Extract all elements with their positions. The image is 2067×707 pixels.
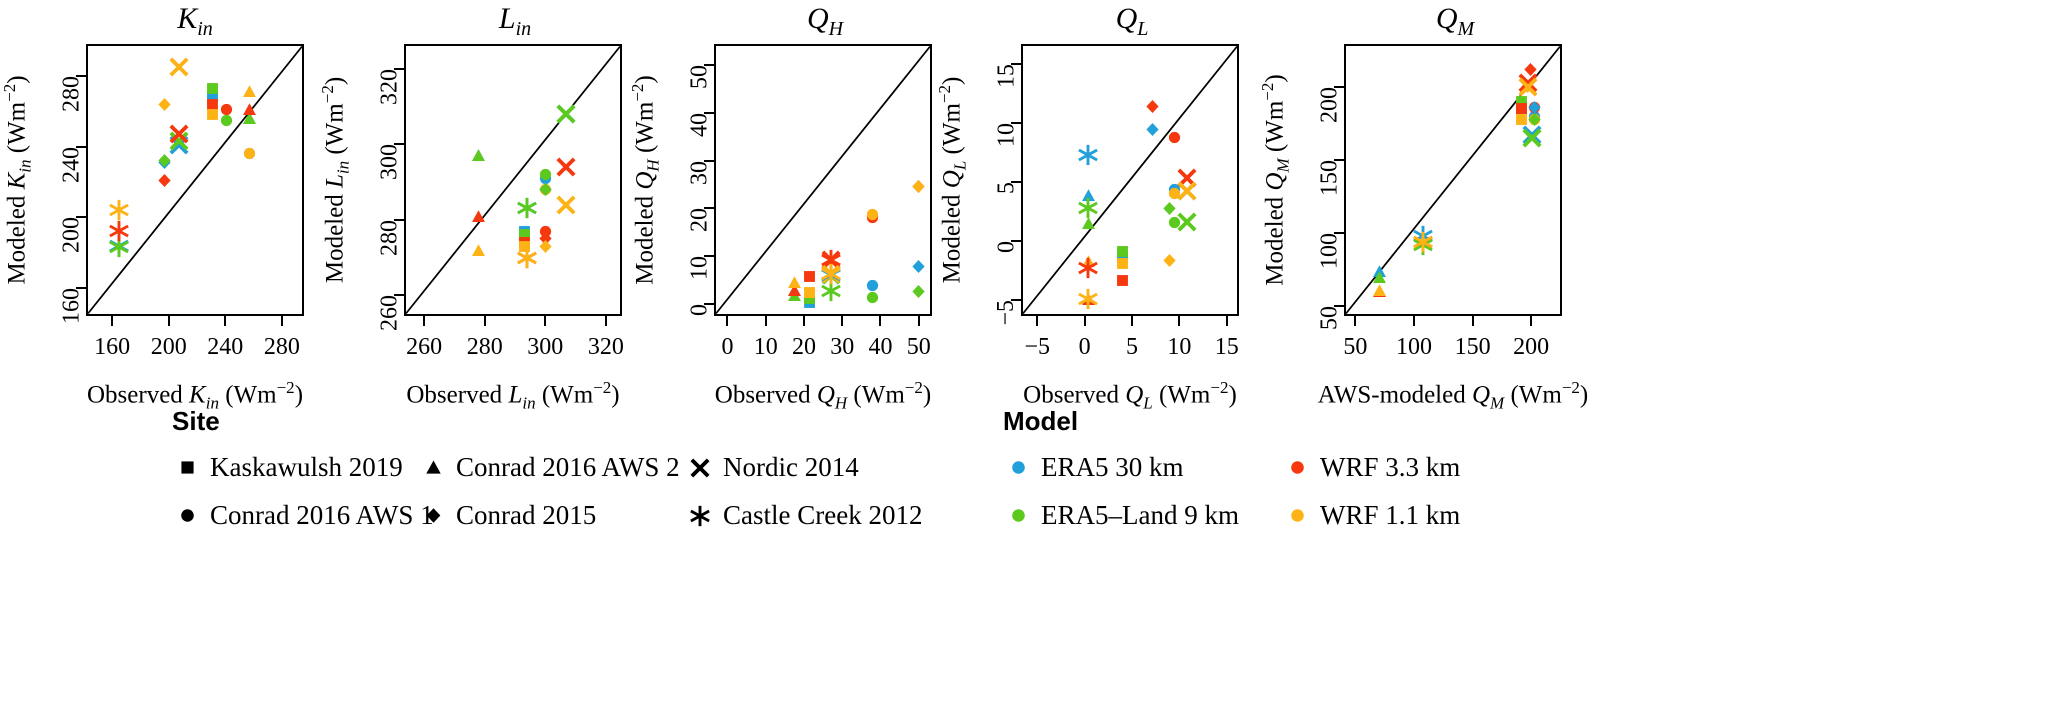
- cross-icon: [685, 456, 715, 480]
- x-tick-QH-0: [726, 314, 728, 326]
- x-tick-Kin-2: [224, 314, 226, 326]
- legend-label: WRF 1.1 km: [1320, 500, 1460, 531]
- x-tick-Lin-0: [423, 314, 425, 326]
- plot-area-Kin: 160200240280160200240280: [86, 44, 304, 316]
- y-tick-label-Lin-3: 320: [377, 69, 404, 105]
- legend-label: Conrad 2016 AWS 2: [456, 452, 680, 483]
- x-tick-QH-3: [841, 314, 843, 326]
- panel-title-Kin: Kin: [60, 2, 330, 41]
- x-tick-Lin-2: [544, 314, 546, 326]
- plot-area-Lin: 260280300320260280300320: [404, 44, 622, 316]
- circle-icon: [1003, 458, 1033, 477]
- figure-canvas: Kin160200240280160200240280Modeled Kin (…: [0, 0, 2067, 707]
- y-tick-label-QH-5: 50: [687, 65, 714, 89]
- y-tick-label-QM-2: 150: [1317, 160, 1344, 196]
- x-tick-Kin-3: [281, 314, 283, 326]
- x-tick-Lin-1: [484, 314, 486, 326]
- x-tick-Lin-3: [605, 314, 607, 326]
- plot-area-QH: 0102030405001020304050: [714, 44, 932, 316]
- legend-label: Kaskawulsh 2019: [210, 452, 403, 483]
- legend-label: Conrad 2016 AWS 1: [210, 500, 434, 531]
- y-tick-label-QL-4: 15: [994, 64, 1021, 88]
- x-tick-QH-5: [918, 314, 920, 326]
- one-to-one-line-Kin: [88, 46, 302, 314]
- y-tick-label-Lin-0: 260: [377, 295, 404, 331]
- legend-item-site-4[interactable]: Nordic 2014: [685, 452, 859, 483]
- triangle-icon: [418, 458, 448, 477]
- x-tick-QL-1: [1084, 314, 1086, 326]
- x-tick-label-QH-5: 50: [879, 334, 959, 361]
- x-tick-label-Kin-3: 280: [242, 334, 322, 361]
- x-axis-label-Lin: Observed Lin (Wm−2): [343, 378, 683, 413]
- y-axis-label-QH: Modeled QH (Wm−2): [628, 44, 663, 316]
- legend-label: Nordic 2014: [723, 452, 859, 483]
- plot-area-QL: −5051015−5051015: [1021, 44, 1239, 316]
- x-tick-QM-1: [1413, 314, 1415, 326]
- x-tick-Kin-0: [111, 314, 113, 326]
- y-axis-label-Lin: Modeled Lin (Wm−2): [318, 44, 353, 316]
- one-to-one-line-Lin: [406, 46, 620, 314]
- y-tick-label-Lin-2: 300: [377, 144, 404, 180]
- legend-item-site-1[interactable]: Conrad 2016 AWS 1: [172, 500, 434, 531]
- x-tick-QL-3: [1178, 314, 1180, 326]
- legend-title-site: Site: [172, 406, 220, 437]
- panel-title-QH: QH: [690, 2, 960, 41]
- y-axis-label-QL: Modeled QL (Wm−2): [935, 44, 970, 316]
- x-tick-QH-4: [879, 314, 881, 326]
- x-tick-QM-0: [1354, 314, 1356, 326]
- x-tick-QM-2: [1472, 314, 1474, 326]
- legend-item-site-3[interactable]: Conrad 2015: [418, 500, 596, 531]
- y-tick-label-QH-3: 30: [687, 161, 714, 185]
- diamond-icon: [418, 506, 448, 525]
- legend-label: WRF 3.3 km: [1320, 452, 1460, 483]
- y-tick-label-Kin-3: 280: [59, 76, 86, 112]
- y-tick-label-QH-4: 40: [687, 113, 714, 137]
- x-axis-label-QH: Observed QH (Wm−2): [653, 378, 993, 413]
- one-to-one-line-QM: [1346, 46, 1560, 314]
- panel-title-QM: QM: [1320, 2, 1590, 41]
- y-tick-label-QM-3: 200: [1317, 87, 1344, 123]
- circle-icon: [1003, 506, 1033, 525]
- panel-title-QL: QL: [997, 2, 1267, 41]
- square-icon: [172, 458, 202, 477]
- legend-item-model-1[interactable]: ERA5–Land 9 km: [1003, 500, 1239, 531]
- circle-icon: [1282, 506, 1312, 525]
- legend-item-site-2[interactable]: Conrad 2016 AWS 2: [418, 452, 680, 483]
- y-tick-label-QM-0: 50: [1317, 306, 1344, 330]
- one-to-one-line-QH: [716, 46, 930, 314]
- y-tick-label-QL-2: 5: [994, 182, 1021, 194]
- y-tick-label-Lin-1: 280: [377, 220, 404, 256]
- y-tick-label-QM-1: 100: [1317, 233, 1344, 269]
- x-axis-label-QM: AWS-modeled QM (Wm−2): [1283, 378, 1623, 413]
- panel-title-Lin: Lin: [380, 2, 650, 41]
- y-tick-label-QL-0: −5: [994, 300, 1021, 326]
- legend-label: ERA5–Land 9 km: [1041, 500, 1239, 531]
- y-tick-label-QH-0: 0: [687, 304, 714, 316]
- legend-item-site-0[interactable]: Kaskawulsh 2019: [172, 452, 403, 483]
- legend-item-site-5[interactable]: Castle Creek 2012: [685, 500, 922, 531]
- x-tick-QL-2: [1131, 314, 1133, 326]
- circle-icon: [172, 506, 202, 525]
- x-tick-QL-4: [1226, 314, 1228, 326]
- x-tick-label-QL-4: 15: [1187, 334, 1267, 361]
- legend-label: Castle Creek 2012: [723, 500, 922, 531]
- asterisk-icon: [685, 504, 715, 528]
- y-tick-label-QH-1: 10: [687, 256, 714, 280]
- legend-item-model-2[interactable]: WRF 3.3 km: [1282, 452, 1460, 483]
- legend-item-model-3[interactable]: WRF 1.1 km: [1282, 500, 1460, 531]
- x-tick-QM-3: [1530, 314, 1532, 326]
- y-tick-label-Kin-1: 200: [59, 217, 86, 253]
- y-tick-label-QL-1: 0: [994, 241, 1021, 253]
- y-axis-label-QM: Modeled QM (Wm−2): [1258, 44, 1293, 316]
- y-tick-label-Kin-0: 160: [59, 288, 86, 324]
- x-tick-label-Lin-3: 320: [566, 334, 646, 361]
- legend-label: ERA5 30 km: [1041, 452, 1184, 483]
- x-tick-Kin-1: [168, 314, 170, 326]
- plot-area-QM: 5010015020050100150200: [1344, 44, 1562, 316]
- legend-title-model: Model: [1003, 406, 1078, 437]
- legend-item-model-0[interactable]: ERA5 30 km: [1003, 452, 1184, 483]
- one-to-one-line-QL: [1023, 46, 1237, 314]
- y-tick-label-Kin-2: 240: [59, 147, 86, 183]
- y-tick-label-QL-3: 10: [994, 123, 1021, 147]
- legend-label: Conrad 2015: [456, 500, 596, 531]
- x-tick-QH-2: [803, 314, 805, 326]
- x-tick-QH-1: [765, 314, 767, 326]
- circle-icon: [1282, 458, 1312, 477]
- x-tick-QL-0: [1036, 314, 1038, 326]
- y-axis-label-Kin: Modeled Kin (Wm−2): [0, 44, 35, 316]
- y-tick-label-QH-2: 20: [687, 208, 714, 232]
- x-tick-label-QM-3: 200: [1491, 334, 1571, 361]
